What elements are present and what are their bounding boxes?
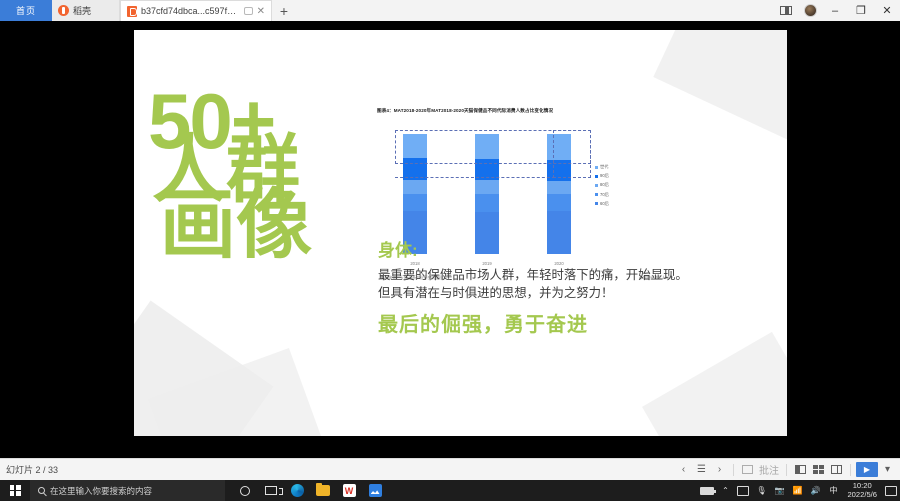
view-reading-button[interactable] <box>828 461 845 479</box>
chart-title: 图表4：MAT2018-2020年MAT2018-2020天猫保健品不同代际消费… <box>377 108 677 114</box>
chart-bar-segment <box>403 180 427 194</box>
editor-body: 50+ 人群 画像 图表4：MAT2018-2020年MAT2018-2020天… <box>0 21 900 458</box>
chart-bar-segment <box>475 194 499 212</box>
tab-docker-label: 稻壳 <box>73 4 91 17</box>
slide-canvas-area[interactable]: 50+ 人群 画像 图表4：MAT2018-2020年MAT2018-2020天… <box>18 21 866 458</box>
docker-icon <box>58 5 69 16</box>
chart-bar-segment <box>475 180 499 194</box>
blue-app-icon <box>369 484 382 497</box>
next-slide-button[interactable]: › <box>711 461 728 479</box>
outline-button[interactable]: ☰ <box>693 461 710 479</box>
prev-slide-button[interactable]: ‹ <box>675 461 692 479</box>
big-title-line-3: 画像 <box>160 195 348 257</box>
legend-label: 60后 <box>600 201 609 207</box>
legend-label: 80后 <box>600 182 609 188</box>
new-tab-button[interactable]: + <box>272 0 296 21</box>
screen-capture-button[interactable] <box>734 480 752 501</box>
close-window-button[interactable]: ✕ <box>874 0 900 21</box>
camera-button[interactable]: 📷 <box>770 480 788 501</box>
ppt-file-icon <box>127 6 137 17</box>
chart-bar-segment <box>547 134 571 160</box>
split-view-icon <box>780 6 792 15</box>
start-icon <box>10 485 21 496</box>
start-button[interactable] <box>0 485 30 496</box>
microphone-button[interactable]: 🎙 <box>752 480 770 501</box>
screen-icon <box>737 486 749 496</box>
slide-counter: 幻灯片 2 / 33 <box>0 463 58 476</box>
legend-label: 世代 <box>600 164 608 170</box>
tab-home[interactable]: 首页 <box>0 0 52 21</box>
wps-office-button[interactable]: W <box>337 480 361 501</box>
status-bar-tools: ‹ ☰ › 批注 ▶ ▾ <box>675 461 900 479</box>
taskbar-items: W <box>225 480 387 501</box>
legend-label: 70后 <box>600 192 609 198</box>
chart-legend-item: 70后 <box>595 192 609 198</box>
network-button[interactable]: 📶 <box>788 480 806 501</box>
body-heading: 身体: <box>378 236 768 261</box>
window-controls: – ❐ ✕ <box>774 0 900 21</box>
tray-expand-button[interactable]: ⌃ <box>716 480 734 501</box>
status-bar: 幻灯片 2 / 33 ‹ ☰ › 批注 ▶ ▾ <box>0 458 900 480</box>
chart-legend-item: 90后 <box>595 173 609 179</box>
legend-swatch <box>595 166 598 169</box>
tab-document-active[interactable]: b37cfd74dbca...c597f514f932 ✕ <box>120 0 272 21</box>
slide-big-title[interactable]: 50+ 人群 画像 <box>148 90 348 257</box>
tab-bar: 首页 稻壳 b37cfd74dbca...c597f514f932 ✕ + – … <box>0 0 900 21</box>
comment-bubble-icon[interactable] <box>244 7 253 15</box>
wps-office-icon: W <box>343 484 356 497</box>
legend-swatch <box>595 184 598 187</box>
chart-bar-segment <box>547 194 571 211</box>
add-note-button[interactable] <box>739 461 756 479</box>
avatar <box>804 4 817 17</box>
chart-selection-guide-line <box>395 177 555 178</box>
battery-icon <box>700 487 714 495</box>
start-slideshow-button[interactable]: ▶ <box>856 462 878 477</box>
minimize-button[interactable]: – <box>822 0 848 21</box>
divider <box>850 464 851 476</box>
tab-document-label: b37cfd74dbca...c597f514f932 <box>141 6 240 16</box>
body-line-2: 但具有潜在与时俱进的思想，并为之努力！ <box>378 285 768 303</box>
maximize-button[interactable]: ❐ <box>848 0 874 21</box>
task-view-icon <box>265 486 277 495</box>
battery-status-button[interactable] <box>698 480 716 501</box>
cortana-button[interactable] <box>233 480 257 501</box>
windows-taskbar: 在这里输入你要搜索的内容 W <box>0 480 900 501</box>
clock[interactable]: 10:20 2022/5/6 <box>842 482 882 499</box>
chart-legend-item: 60后 <box>595 201 609 207</box>
chart-bar-segment <box>403 134 427 158</box>
search-placeholder: 在这里输入你要搜索的内容 <box>50 485 152 497</box>
reading-view-icon <box>831 465 842 474</box>
ime-indicator[interactable]: 中 <box>824 480 842 501</box>
file-explorer-icon <box>316 485 330 496</box>
chart-bar-segment <box>475 134 499 159</box>
chart-legend-item: 世代 <box>595 164 609 170</box>
chart-bar-segment <box>547 181 571 194</box>
wps-presentation-window: 首页 稻壳 b37cfd74dbca...c597f514f932 ✕ + – … <box>0 0 900 501</box>
divider <box>786 464 787 476</box>
system-tray: ⌃ 🎙 📷 📶 🔊 中 10:20 2022/5/6 <box>698 480 900 501</box>
chart-legend-item: 80后 <box>595 182 609 188</box>
slide-slogan[interactable]: 最后的倔强，勇于奋进 <box>378 308 588 337</box>
legend-label: 90后 <box>600 173 609 179</box>
slideshow-options-caret[interactable]: ▾ <box>879 461 896 479</box>
normal-view-icon <box>795 465 806 474</box>
search-icon <box>38 487 45 494</box>
chart-bar-segment <box>403 194 427 211</box>
close-icon[interactable]: ✕ <box>257 6 265 17</box>
notification-icon <box>885 486 897 496</box>
chart-legend: 世代90后80后70后60后 <box>595 164 609 207</box>
tab-home-label: 首页 <box>16 4 36 17</box>
divider <box>733 464 734 476</box>
edge-icon <box>291 484 304 497</box>
slide-thumbnail-pane[interactable] <box>0 21 18 458</box>
slide-surface[interactable]: 50+ 人群 画像 图表4：MAT2018-2020年MAT2018-2020天… <box>134 30 787 436</box>
notifications-button[interactable] <box>882 480 900 501</box>
legend-swatch <box>595 202 598 205</box>
clock-date: 2022/5/6 <box>847 491 877 500</box>
file-explorer-button[interactable] <box>311 480 335 501</box>
decor-wedge <box>642 332 787 436</box>
volume-button[interactable]: 🔊 <box>806 480 824 501</box>
note-icon <box>742 465 753 474</box>
body-line-1: 最重要的保健品市场人群，年轻时落下的痛，开始显现。 <box>378 267 768 285</box>
slide-body-text[interactable]: 身体: 最重要的保健品市场人群，年轻时落下的痛，开始显现。 但具有潜在与时俱进的… <box>378 236 768 303</box>
taskbar-search[interactable]: 在这里输入你要搜索的内容 <box>30 480 225 501</box>
task-view-button[interactable] <box>259 480 283 501</box>
blue-app-button[interactable] <box>363 480 387 501</box>
view-normal-button[interactable] <box>792 461 809 479</box>
tab-docker[interactable]: 稻壳 <box>52 0 120 21</box>
edge-button[interactable] <box>285 480 309 501</box>
slide-sorter-icon <box>813 465 824 474</box>
view-sorter-button[interactable] <box>810 461 827 479</box>
legend-swatch <box>595 193 598 196</box>
cortana-icon <box>240 486 250 496</box>
note-label[interactable]: 批注 <box>757 461 781 479</box>
split-view-button[interactable] <box>774 0 798 21</box>
user-avatar-button[interactable] <box>798 0 822 21</box>
legend-swatch <box>595 175 598 178</box>
